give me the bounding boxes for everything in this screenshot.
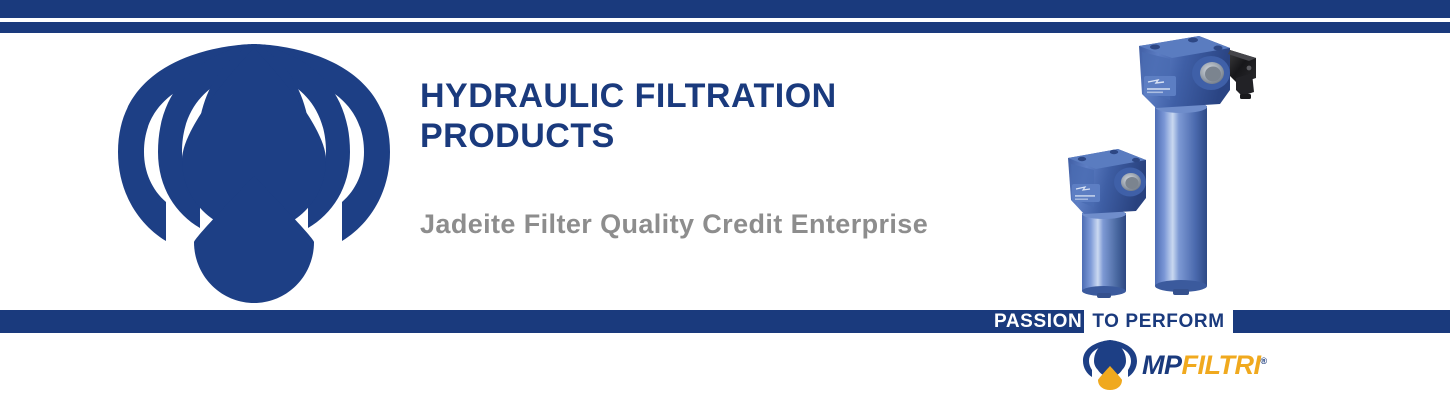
hydraulic-filtration-banner: HYDRAULIC FILTRATION PRODUCTS Jadeite Fi… bbox=[0, 0, 1450, 400]
mpfiltri-brand-logo: MPFILTRI® bbox=[1080, 338, 1270, 392]
hydraulic-filter-products-photo bbox=[1060, 28, 1290, 310]
mpfiltri-droplet-icon bbox=[1080, 339, 1140, 391]
tagline: PASSION TO PERFORM bbox=[990, 310, 1233, 333]
headline-line-1: HYDRAULIC FILTRATION bbox=[420, 76, 1040, 116]
mpfiltri-wordmark: MPFILTRI® bbox=[1142, 352, 1267, 379]
tagline-passion: PASSION bbox=[990, 310, 1084, 333]
registered-trademark-icon: ® bbox=[1260, 356, 1266, 366]
brand-word-mp: MP bbox=[1142, 350, 1182, 380]
tagline-to-perform: TO PERFORM bbox=[1084, 310, 1232, 333]
headline-line-2: PRODUCTS bbox=[420, 116, 1040, 156]
brand-word-filtri: FILTRI bbox=[1182, 350, 1261, 380]
subtitle: Jadeite Filter Quality Credit Enterprise bbox=[420, 209, 928, 240]
water-droplet-ripple-logo-icon bbox=[118, 42, 390, 304]
headline: HYDRAULIC FILTRATION PRODUCTS bbox=[420, 76, 1040, 156]
top-bar-thick bbox=[0, 0, 1450, 18]
